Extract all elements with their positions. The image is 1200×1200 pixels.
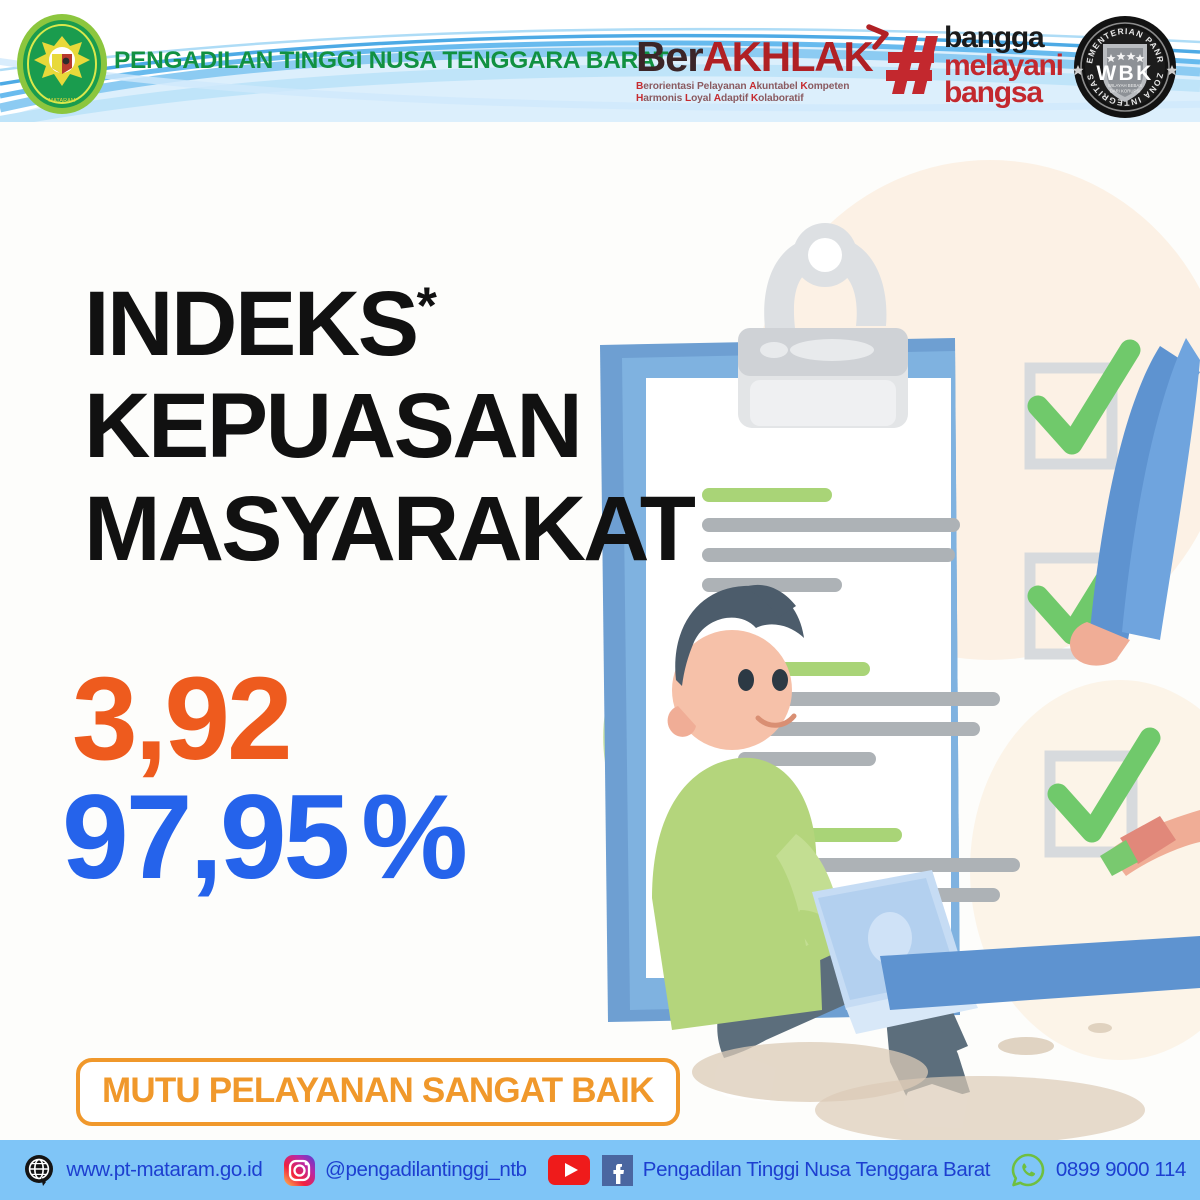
page-title: INDEKS* KEPUASAN MASYARAKAT [84, 280, 764, 573]
berakhlak-logo: BerAKHLAK Berorientasi Pelayanan Akuntab… [636, 36, 873, 106]
court-name-title: PENGADILAN TINGGI NUSA TENGGARA BARAT [114, 47, 668, 75]
contact-footer: www.pt-mataram.go.id @pengadilantin [0, 1140, 1200, 1200]
poster-canvas: MATARAM PENGADILAN TINGGI NUSA TENGGARA … [0, 0, 1200, 1200]
whatsapp-contact[interactable]: 0899 9000 114 [1009, 1151, 1186, 1189]
svg-text:DARI KORUPSI: DARI KORUPSI [1110, 88, 1141, 93]
facebook-contact[interactable]: Pengadilan Tinggi Nusa Tenggara Barat [601, 1154, 990, 1187]
berakhlak-subtitle: Berorientasi Pelayanan Akuntabel Kompete… [636, 81, 873, 106]
bangga-wordmark: bangga melayani bangsa [944, 24, 1063, 107]
page-header: MATARAM PENGADILAN TINGGI NUSA TENGGARA … [0, 0, 1200, 122]
percent-number: 97,95 [62, 770, 347, 904]
main-content: INDEKS* KEPUASAN MASYARAKAT 3,92 97,95% … [0, 122, 1200, 1140]
facebook-icon [601, 1154, 634, 1187]
facebook-text: Pengadilan Tinggi Nusa Tenggara Barat [643, 1158, 990, 1182]
bangga-melayani-bangsa-logo: bangga melayani bangsa [884, 24, 1063, 107]
hashtag-icon [884, 32, 938, 98]
globe-icon [23, 1153, 57, 1187]
instagram-icon [283, 1154, 316, 1187]
headline-line-1: INDEKS* [84, 280, 764, 368]
whatsapp-icon [1009, 1151, 1047, 1189]
svg-text:MATARAM: MATARAM [48, 98, 75, 104]
berakhlak-prefix: Ber [636, 33, 702, 80]
berakhlak-wordmark: BerAKHLAK [636, 36, 873, 78]
youtube-contact[interactable] [547, 1154, 591, 1186]
bangga-line1: bangga [944, 24, 1063, 52]
headline-line-2: KEPUASAN [84, 382, 764, 470]
whatsapp-text: 0899 9000 114 [1056, 1158, 1186, 1182]
youtube-icon [547, 1154, 591, 1186]
service-quality-label: MUTU PELAYANAN SANGAT BAIK [102, 1071, 654, 1110]
headline-text-indeks: INDEKS [84, 273, 417, 375]
website-text: www.pt-mataram.go.id [66, 1158, 262, 1182]
svg-text:WILAYAH BEBAS: WILAYAH BEBAS [1108, 83, 1142, 88]
berakhlak-accent: AKHLAK [702, 33, 872, 80]
wbk-zona-integritas-badge: KEMENTERIAN PANRB ZONA INTEGRITAS WBK WI… [1063, 14, 1187, 120]
court-seal-logo: MATARAM [14, 12, 110, 116]
percent-symbol: % [361, 770, 465, 904]
index-score-value: 3,92 [72, 660, 290, 778]
instagram-text: @pengadilantinggi_ntb [325, 1158, 527, 1182]
svg-text:WBK: WBK [1096, 62, 1153, 85]
percent-score-value: 97,95% [62, 777, 465, 897]
bangga-line3: bangsa [944, 79, 1063, 107]
headline-asterisk: * [417, 277, 435, 335]
headline-line-3: MASYARAKAT [84, 485, 764, 573]
website-contact[interactable]: www.pt-mataram.go.id [23, 1153, 262, 1187]
bangga-line2: melayani [944, 52, 1063, 80]
instagram-contact[interactable]: @pengadilantinggi_ntb [283, 1154, 527, 1187]
service-quality-badge: MUTU PELAYANAN SANGAT BAIK [76, 1058, 680, 1126]
